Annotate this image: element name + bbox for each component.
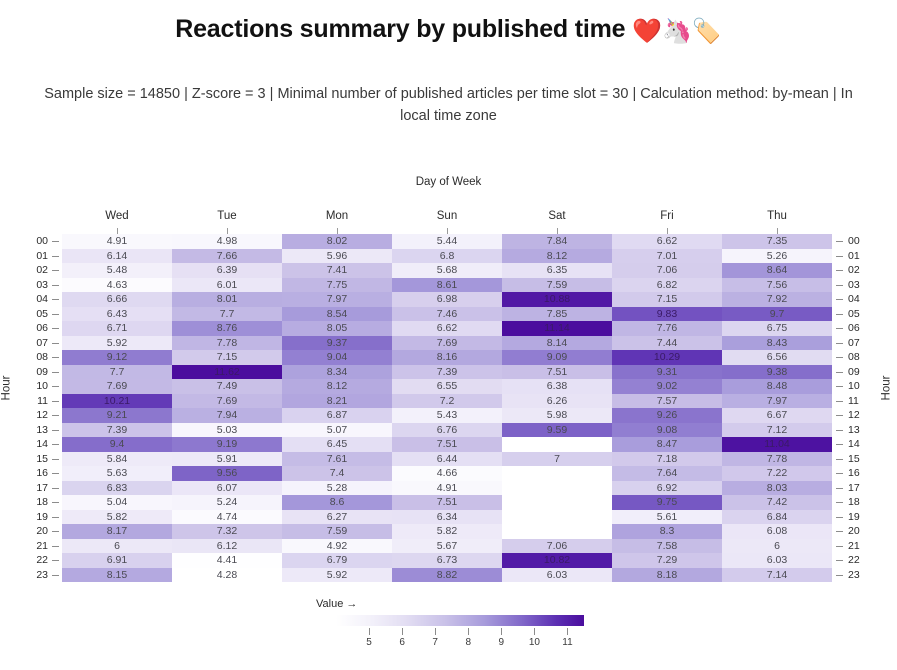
heatmap-row: 66.124.925.677.067.586 (62, 539, 832, 554)
legend-tick-6 (402, 628, 403, 635)
y-axis-title-right: Hour (880, 376, 892, 401)
y-tick-right-00 (836, 241, 843, 242)
y-tick-left-21 (52, 546, 59, 547)
heatmap-row: 4.636.017.758.617.596.827.56 (62, 278, 832, 293)
heatmap-cell-sat-15[interactable]: 7 (502, 452, 612, 467)
heatmap-cell-fri-01[interactable]: 7.01 (612, 249, 722, 264)
heatmap-cell-sun-23[interactable]: 8.82 (392, 568, 502, 583)
heatmap-cell-mon-10[interactable]: 8.12 (282, 379, 392, 394)
heatmap-cell-mon-21[interactable]: 4.92 (282, 539, 392, 554)
heatmap-cell-sun-15[interactable]: 6.44 (392, 452, 502, 467)
legend-tick-8 (468, 628, 469, 635)
heatmap-cell-sat-06[interactable]: 11.14 (502, 321, 612, 336)
y-label-right-15: 15 (848, 452, 874, 467)
y-tick-left-19 (52, 517, 59, 518)
y-label-right-19: 19 (848, 510, 874, 525)
heatmap-cell-fri-23[interactable]: 8.18 (612, 568, 722, 583)
heatmap-cell-fri-21[interactable]: 7.58 (612, 539, 722, 554)
heatmap-cell-thu-05[interactable]: 9.7 (722, 307, 832, 322)
heatmap-row: 5.045.248.67.519.757.42 (62, 495, 832, 510)
y-tick-left-05 (52, 314, 59, 315)
heatmap-cell-thu-08[interactable]: 6.56 (722, 350, 832, 365)
y-tick-left-00 (52, 241, 59, 242)
y-label-right-20: 20 (848, 524, 874, 539)
y-label-left-05: 05 (22, 307, 48, 322)
heatmap-cell-wed-19[interactable]: 5.82 (62, 510, 172, 525)
heatmap-cell-thu-12[interactable]: 6.67 (722, 408, 832, 423)
page-title: Reactions summary by published time ❤️🦄🏷… (175, 14, 721, 47)
heatmap-cell-sun-21[interactable]: 5.67 (392, 539, 502, 554)
heatmap-cell-thu-13[interactable]: 7.12 (722, 423, 832, 438)
legend-tick-label-8: 8 (456, 637, 480, 648)
heatmap-row: 7.697.498.126.556.389.028.48 (62, 379, 832, 394)
heatmap-row: 7.711.628.347.397.519.319.38 (62, 365, 832, 380)
heatmap-cell-fri-16[interactable]: 7.64 (612, 466, 722, 481)
heatmap-cell-fri-08[interactable]: 10.29 (612, 350, 722, 365)
heatmap-cell-thu-21[interactable]: 6 (722, 539, 832, 554)
heatmap-row: 9.49.196.457.518.4711.04 (62, 437, 832, 452)
y-label-right-05: 05 (848, 307, 874, 322)
heatmap-row: 10.217.698.217.26.267.577.97 (62, 394, 832, 409)
heatmap-row: 6.914.416.796.7310.827.296.03 (62, 553, 832, 568)
heatmap-cell-sun-02[interactable]: 5.68 (392, 263, 502, 278)
y-tick-left-17 (52, 488, 59, 489)
y-label-right-03: 03 (848, 278, 874, 293)
column-header-fri: Fri (612, 210, 722, 222)
y-label-right-00: 00 (848, 234, 874, 249)
heatmap-cell-fri-20[interactable]: 8.3 (612, 524, 722, 539)
heatmap-cell-wed-18[interactable]: 5.04 (62, 495, 172, 510)
heatmap-cell-sun-01[interactable]: 6.8 (392, 249, 502, 264)
heatmap-cell-sun-11[interactable]: 7.2 (392, 394, 502, 409)
heatmap-cell-fri-06[interactable]: 7.76 (612, 321, 722, 336)
heatmap-cell-sat-05[interactable]: 7.85 (502, 307, 612, 322)
heatmap-cell-mon-23[interactable]: 5.92 (282, 568, 392, 583)
y-tick-left-10 (52, 386, 59, 387)
y-tick-left-22 (52, 560, 59, 561)
legend-tick-label-11: 11 (555, 637, 579, 648)
y-tick-left-20 (52, 531, 59, 532)
heatmap-cell-fri-03[interactable]: 6.82 (612, 278, 722, 293)
heatmap-cell-sat-03[interactable]: 7.59 (502, 278, 612, 293)
heatmap-cell-mon-02[interactable]: 7.41 (282, 263, 392, 278)
heatmap-cell-sat-09[interactable]: 7.51 (502, 365, 612, 380)
heatmap-cell-wed-07[interactable]: 5.92 (62, 336, 172, 351)
heatmap-cell-tue-07[interactable]: 7.78 (172, 336, 282, 351)
heatmap-cell-mon-12[interactable]: 6.87 (282, 408, 392, 423)
heatmap-cell-thu-02[interactable]: 8.64 (722, 263, 832, 278)
y-tick-right-19 (836, 517, 843, 518)
y-label-right-02: 02 (848, 263, 874, 278)
y-tick-right-05 (836, 314, 843, 315)
legend-title: Value → (316, 598, 357, 610)
heatmap-cell-tue-17[interactable]: 6.07 (172, 481, 282, 496)
y-axis-title-left: Hour (0, 376, 12, 401)
heatmap-cell-thu-16[interactable]: 7.22 (722, 466, 832, 481)
heatmap-cell-wed-01[interactable]: 6.14 (62, 249, 172, 264)
heatmap-cell-sun-17[interactable]: 4.91 (392, 481, 502, 496)
color-legend: Value → 567891011 (0, 596, 897, 656)
heatmap-cell-mon-00[interactable]: 8.02 (282, 234, 392, 249)
heatmap-cell-sun-04[interactable]: 6.98 (392, 292, 502, 307)
heatmap-cell-thu-11[interactable]: 7.97 (722, 394, 832, 409)
heatmap-cell-thu-04[interactable]: 7.92 (722, 292, 832, 307)
heatmap-cell-sat-20[interactable] (502, 524, 612, 539)
heatmap-cell-wed-12[interactable]: 9.21 (62, 408, 172, 423)
y-label-left-04: 04 (22, 292, 48, 307)
y-label-right-08: 08 (848, 350, 874, 365)
heatmap-cell-mon-09[interactable]: 8.34 (282, 365, 392, 380)
heatmap-cell-wed-09[interactable]: 7.7 (62, 365, 172, 380)
heatmap-cell-wed-16[interactable]: 5.63 (62, 466, 172, 481)
y-tick-right-01 (836, 256, 843, 257)
y-label-left-17: 17 (22, 481, 48, 496)
y-label-left-07: 07 (22, 336, 48, 351)
heatmap-grid: 4.914.988.025.447.846.627.356.147.665.96… (62, 234, 832, 582)
y-label-left-12: 12 (22, 408, 48, 423)
heatmap-cell-wed-23[interactable]: 8.15 (62, 568, 172, 583)
heatmap-cell-sun-13[interactable]: 6.76 (392, 423, 502, 438)
heatmap-cell-fri-04[interactable]: 7.15 (612, 292, 722, 307)
y-tick-right-10 (836, 386, 843, 387)
heatmap-cell-sun-16[interactable]: 4.66 (392, 466, 502, 481)
heatmap-cell-wed-03[interactable]: 4.63 (62, 278, 172, 293)
heatmap-cell-mon-06[interactable]: 8.05 (282, 321, 392, 336)
heatmap-cell-thu-00[interactable]: 7.35 (722, 234, 832, 249)
heatmap-cell-fri-11[interactable]: 7.57 (612, 394, 722, 409)
y-tick-left-09 (52, 372, 59, 373)
heatmap-cell-wed-05[interactable]: 6.43 (62, 307, 172, 322)
y-label-left-13: 13 (22, 423, 48, 438)
heatmap-cell-mon-03[interactable]: 7.75 (282, 278, 392, 293)
heatmap-cell-thu-22[interactable]: 6.03 (722, 553, 832, 568)
y-tick-right-04 (836, 299, 843, 300)
heatmap-cell-tue-03[interactable]: 6.01 (172, 278, 282, 293)
heatmap-cell-wed-11[interactable]: 10.21 (62, 394, 172, 409)
heatmap-cell-thu-20[interactable]: 6.08 (722, 524, 832, 539)
y-label-left-10: 10 (22, 379, 48, 394)
heatmap-cell-mon-14[interactable]: 6.45 (282, 437, 392, 452)
heatmap-cell-mon-01[interactable]: 5.96 (282, 249, 392, 264)
heatmap-cell-sun-18[interactable]: 7.51 (392, 495, 502, 510)
heatmap-cell-thu-14[interactable]: 11.04 (722, 437, 832, 452)
heatmap-row: 6.437.78.547.467.859.839.7 (62, 307, 832, 322)
heatmap-cell-sun-09[interactable]: 7.39 (392, 365, 502, 380)
heatmap-cell-tue-04[interactable]: 8.01 (172, 292, 282, 307)
y-label-right-13: 13 (848, 423, 874, 438)
heatmap-cell-wed-02[interactable]: 5.48 (62, 263, 172, 278)
heatmap-chart: Day of Week WedTueMonSunSatFriThu 4.914.… (0, 176, 897, 596)
y-tick-right-02 (836, 270, 843, 271)
heatmap-cell-fri-13[interactable]: 9.08 (612, 423, 722, 438)
y-tick-left-03 (52, 285, 59, 286)
heatmap-row: 6.718.768.056.6211.147.766.75 (62, 321, 832, 336)
y-tick-right-20 (836, 531, 843, 532)
y-tick-right-06 (836, 328, 843, 329)
legend-tick-label-7: 7 (423, 637, 447, 648)
y-tick-left-11 (52, 401, 59, 402)
heatmap-cell-tue-15[interactable]: 5.91 (172, 452, 282, 467)
heatmap-cell-wed-15[interactable]: 5.84 (62, 452, 172, 467)
heatmap-cell-tue-00[interactable]: 4.98 (172, 234, 282, 249)
heatmap-cell-tue-09[interactable]: 11.62 (172, 365, 282, 380)
heatmap-cell-sun-14[interactable]: 7.51 (392, 437, 502, 452)
column-headers: WedTueMonSunSatFriThu (62, 210, 832, 228)
y-tick-left-16 (52, 473, 59, 474)
heatmap-cell-sat-04[interactable]: 10.88 (502, 292, 612, 307)
y-tick-right-07 (836, 343, 843, 344)
heatmap-cell-wed-10[interactable]: 7.69 (62, 379, 172, 394)
heatmap-cell-wed-06[interactable]: 6.71 (62, 321, 172, 336)
heatmap-cell-wed-14[interactable]: 9.4 (62, 437, 172, 452)
heatmap-cell-sat-01[interactable]: 8.12 (502, 249, 612, 264)
y-label-left-08: 08 (22, 350, 48, 365)
heatmap-cell-mon-15[interactable]: 7.61 (282, 452, 392, 467)
y-label-right-23: 23 (848, 568, 874, 583)
y-tick-left-23 (52, 575, 59, 576)
column-header-tue: Tue (172, 210, 282, 222)
heatmap-cell-tue-18[interactable]: 5.24 (172, 495, 282, 510)
y-tick-right-09 (836, 372, 843, 373)
heatmap-cell-sat-08[interactable]: 9.09 (502, 350, 612, 365)
y-label-right-09: 09 (848, 365, 874, 380)
heatmap-cell-thu-23[interactable]: 7.14 (722, 568, 832, 583)
heatmap-cell-mon-11[interactable]: 8.21 (282, 394, 392, 409)
heatmap-cell-tue-13[interactable]: 5.03 (172, 423, 282, 438)
heatmap-cell-fri-09[interactable]: 9.31 (612, 365, 722, 380)
heatmap-cell-tue-11[interactable]: 7.69 (172, 394, 282, 409)
y-tick-right-21 (836, 546, 843, 547)
heatmap-cell-mon-20[interactable]: 7.59 (282, 524, 392, 539)
heatmap-cell-mon-07[interactable]: 9.37 (282, 336, 392, 351)
heatmap-cell-sat-22[interactable]: 10.82 (502, 553, 612, 568)
heatmap-cell-sat-23[interactable]: 6.03 (502, 568, 612, 583)
y-label-right-22: 22 (848, 553, 874, 568)
legend-tick-9 (501, 628, 502, 635)
y-tick-left-13 (52, 430, 59, 431)
heatmap-cell-thu-17[interactable]: 8.03 (722, 481, 832, 496)
legend-gradient-bar (336, 615, 584, 626)
column-header-sun: Sun (392, 210, 502, 222)
subtitle-block: Sample size = 14850 | Z-score = 3 | Mini… (34, 47, 864, 128)
y-label-left-00: 00 (22, 234, 48, 249)
y-label-right-10: 10 (848, 379, 874, 394)
y-label-left-23: 23 (22, 568, 48, 583)
heatmap-cell-wed-00[interactable]: 4.91 (62, 234, 172, 249)
heatmap-cell-sun-08[interactable]: 8.16 (392, 350, 502, 365)
heatmap-cell-fri-17[interactable]: 6.92 (612, 481, 722, 496)
y-label-right-14: 14 (848, 437, 874, 452)
y-label-right-16: 16 (848, 466, 874, 481)
y-label-left-15: 15 (22, 452, 48, 467)
heatmap-cell-thu-09[interactable]: 9.38 (722, 365, 832, 380)
heatmap-cell-mon-08[interactable]: 9.04 (282, 350, 392, 365)
heatmap-cell-tue-06[interactable]: 8.76 (172, 321, 282, 336)
heatmap-cell-wed-13[interactable]: 7.39 (62, 423, 172, 438)
heatmap-cell-sat-13[interactable]: 9.59 (502, 423, 612, 438)
heatmap-cell-sat-21[interactable]: 7.06 (502, 539, 612, 554)
y-label-left-18: 18 (22, 495, 48, 510)
heatmap-cell-sun-22[interactable]: 6.73 (392, 553, 502, 568)
y-tick-right-23 (836, 575, 843, 576)
heatmap-cell-fri-12[interactable]: 9.26 (612, 408, 722, 423)
heatmap-cell-mon-22[interactable]: 6.79 (282, 553, 392, 568)
y-label-right-12: 12 (848, 408, 874, 423)
heatmap-cell-tue-21[interactable]: 6.12 (172, 539, 282, 554)
heatmap-cell-fri-10[interactable]: 9.02 (612, 379, 722, 394)
y-tick-right-03 (836, 285, 843, 286)
heatmap-cell-thu-10[interactable]: 8.48 (722, 379, 832, 394)
y-label-right-07: 07 (848, 336, 874, 351)
heatmap-cell-mon-13[interactable]: 5.07 (282, 423, 392, 438)
legend-tick-7 (435, 628, 436, 635)
heatmap-cell-sun-12[interactable]: 5.43 (392, 408, 502, 423)
heatmap-cell-fri-07[interactable]: 7.44 (612, 336, 722, 351)
legend-tick-label-5: 5 (357, 637, 381, 648)
heatmap-cell-thu-15[interactable]: 7.78 (722, 452, 832, 467)
y-tick-left-15 (52, 459, 59, 460)
heatmap-cell-thu-18[interactable]: 7.42 (722, 495, 832, 510)
heatmap-cell-tue-02[interactable]: 6.39 (172, 263, 282, 278)
column-header-wed: Wed (62, 210, 172, 222)
y-tick-left-14 (52, 444, 59, 445)
heatmap-row: 4.914.988.025.447.846.627.35 (62, 234, 832, 249)
heatmap-cell-mon-04[interactable]: 7.97 (282, 292, 392, 307)
y-label-left-06: 06 (22, 321, 48, 336)
heatmap-cell-tue-12[interactable]: 7.94 (172, 408, 282, 423)
heatmap-cell-tue-08[interactable]: 7.15 (172, 350, 282, 365)
y-tick-right-22 (836, 560, 843, 561)
heatmap-row: 8.177.327.595.828.36.08 (62, 524, 832, 539)
heatmap-cell-mon-17[interactable]: 5.28 (282, 481, 392, 496)
heatmap-cell-sat-11[interactable]: 6.26 (502, 394, 612, 409)
y-tick-right-12 (836, 415, 843, 416)
title-block: Reactions summary by published time ❤️🦄🏷… (0, 0, 897, 47)
heatmap-cell-tue-05[interactable]: 7.7 (172, 307, 282, 322)
y-label-right-17: 17 (848, 481, 874, 496)
heatmap-cell-wed-17[interactable]: 6.83 (62, 481, 172, 496)
y-label-left-19: 19 (22, 510, 48, 525)
y-label-left-03: 03 (22, 278, 48, 293)
heatmap-row: 5.486.397.415.686.357.068.64 (62, 263, 832, 278)
heatmap-cell-mon-18[interactable]: 8.6 (282, 495, 392, 510)
y-tick-left-12 (52, 415, 59, 416)
heatmap-cell-thu-07[interactable]: 8.43 (722, 336, 832, 351)
y-tick-left-18 (52, 502, 59, 503)
y-tick-left-08 (52, 357, 59, 358)
heatmap-cell-sat-12[interactable]: 5.98 (502, 408, 612, 423)
subtitle-line-1: Sample size = 14850 | Z-score = 3 | Mini… (44, 86, 836, 102)
heatmap-row: 9.127.159.048.169.0910.296.56 (62, 350, 832, 365)
heatmap-cell-fri-14[interactable]: 8.47 (612, 437, 722, 452)
heatmap-cell-sat-07[interactable]: 8.14 (502, 336, 612, 351)
page-title-text: Reactions summary by published time (175, 15, 625, 43)
heatmap-cell-sat-16[interactable] (502, 466, 612, 481)
heatmap-cell-wed-20[interactable]: 8.17 (62, 524, 172, 539)
heatmap-row: 5.639.567.44.667.647.22 (62, 466, 832, 481)
heatmap-cell-fri-19[interactable]: 5.61 (612, 510, 722, 525)
heatmap-cell-sun-03[interactable]: 8.61 (392, 278, 502, 293)
legend-tick-label-9: 9 (489, 637, 513, 648)
y-tick-left-07 (52, 343, 59, 344)
y-label-right-18: 18 (848, 495, 874, 510)
heatmap-cell-mon-05[interactable]: 8.54 (282, 307, 392, 322)
heatmap-cell-mon-19[interactable]: 6.27 (282, 510, 392, 525)
heatmap-cell-fri-18[interactable]: 9.75 (612, 495, 722, 510)
heatmap-cell-sat-02[interactable]: 6.35 (502, 263, 612, 278)
legend-tick-label-10: 10 (522, 637, 546, 648)
heatmap-cell-fri-15[interactable]: 7.18 (612, 452, 722, 467)
heatmap-cell-tue-19[interactable]: 4.74 (172, 510, 282, 525)
heatmap-cell-tue-23[interactable]: 4.28 (172, 568, 282, 583)
heatmap-cell-sat-18[interactable] (502, 495, 612, 510)
y-tick-left-04 (52, 299, 59, 300)
heatmap-cell-tue-01[interactable]: 7.66 (172, 249, 282, 264)
heatmap-cell-sat-19[interactable] (502, 510, 612, 525)
heatmap-cell-fri-05[interactable]: 9.83 (612, 307, 722, 322)
reaction-emojis-icon: ❤️🦄🏷️ (632, 18, 722, 45)
heatmap-row: 7.395.035.076.769.599.087.12 (62, 423, 832, 438)
heatmap-cell-fri-00[interactable]: 6.62 (612, 234, 722, 249)
heatmap-cell-tue-22[interactable]: 4.41 (172, 553, 282, 568)
heatmap-cell-sat-17[interactable] (502, 481, 612, 496)
heatmap-row: 6.147.665.966.88.127.015.26 (62, 249, 832, 264)
heatmap-cell-tue-10[interactable]: 7.49 (172, 379, 282, 394)
heatmap-row: 8.154.285.928.826.038.187.14 (62, 568, 832, 583)
y-label-left-01: 01 (22, 249, 48, 264)
heatmap-cell-thu-06[interactable]: 6.75 (722, 321, 832, 336)
column-header-sat: Sat (502, 210, 612, 222)
heatmap-cell-tue-16[interactable]: 9.56 (172, 466, 282, 481)
heatmap-cell-mon-16[interactable]: 7.4 (282, 466, 392, 481)
heatmap-cell-wed-08[interactable]: 9.12 (62, 350, 172, 365)
heatmap-cell-tue-20[interactable]: 7.32 (172, 524, 282, 539)
heatmap-cell-thu-03[interactable]: 7.56 (722, 278, 832, 293)
y-label-right-06: 06 (848, 321, 874, 336)
heatmap-row: 5.927.789.377.698.147.448.43 (62, 336, 832, 351)
heatmap-cell-sun-20[interactable]: 5.82 (392, 524, 502, 539)
heatmap-row: 6.836.075.284.916.928.03 (62, 481, 832, 496)
heatmap-cell-sun-05[interactable]: 7.46 (392, 307, 502, 322)
y-tick-right-14 (836, 444, 843, 445)
heatmap-cell-thu-01[interactable]: 5.26 (722, 249, 832, 264)
heatmap-cell-sun-10[interactable]: 6.55 (392, 379, 502, 394)
y-tick-right-08 (836, 357, 843, 358)
heatmap-cell-sat-14[interactable] (502, 437, 612, 452)
heatmap-cell-sun-06[interactable]: 6.62 (392, 321, 502, 336)
heatmap-cell-sat-00[interactable]: 7.84 (502, 234, 612, 249)
heatmap-cell-wed-21[interactable]: 6 (62, 539, 172, 554)
heatmap-cell-sat-10[interactable]: 6.38 (502, 379, 612, 394)
y-label-right-04: 04 (848, 292, 874, 307)
heatmap-cell-sun-07[interactable]: 7.69 (392, 336, 502, 351)
y-tick-left-01 (52, 256, 59, 257)
y-label-left-14: 14 (22, 437, 48, 452)
y-label-left-02: 02 (22, 263, 48, 278)
heatmap-cell-sun-19[interactable]: 6.34 (392, 510, 502, 525)
heatmap-cell-fri-02[interactable]: 7.06 (612, 263, 722, 278)
heatmap-row: 5.845.917.616.4477.187.78 (62, 452, 832, 467)
heatmap-cell-fri-22[interactable]: 7.29 (612, 553, 722, 568)
heatmap-cell-wed-22[interactable]: 6.91 (62, 553, 172, 568)
y-label-left-22: 22 (22, 553, 48, 568)
heatmap-cell-thu-19[interactable]: 6.84 (722, 510, 832, 525)
heatmap-cell-tue-14[interactable]: 9.19 (172, 437, 282, 452)
heatmap-cell-wed-04[interactable]: 6.66 (62, 292, 172, 307)
heatmap-cell-sun-00[interactable]: 5.44 (392, 234, 502, 249)
y-label-left-20: 20 (22, 524, 48, 539)
y-tick-left-06 (52, 328, 59, 329)
